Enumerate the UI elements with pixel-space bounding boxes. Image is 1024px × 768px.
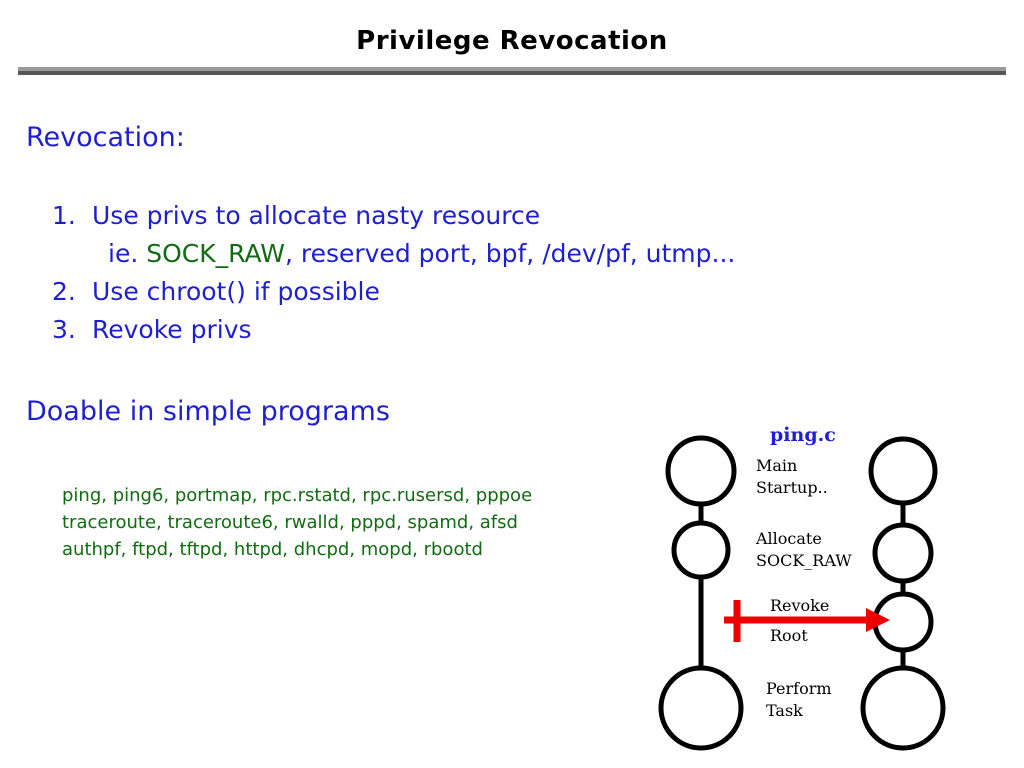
heading-doable: Doable in simple programs xyxy=(26,396,390,427)
list-item-marker: 1. xyxy=(52,197,92,235)
subtext-highlight: SOCK_RAW xyxy=(146,239,285,268)
diagram-label-main: Main Startup.. xyxy=(756,455,828,499)
list-item: 2. Use chroot() if possible xyxy=(52,273,912,311)
list-item: 3. Revoke privs xyxy=(52,311,912,349)
right-node-main xyxy=(871,439,935,503)
page-title: Privilege Revocation xyxy=(0,26,1024,56)
diagram-label-main-line2: Startup.. xyxy=(756,477,828,499)
program-list: ping, ping6, portmap, rpc.rstatd, rpc.ru… xyxy=(62,482,662,563)
diagram-label-perform-line1: Perform xyxy=(766,678,832,700)
right-node-perform xyxy=(863,668,943,748)
right-process-chain xyxy=(863,439,943,748)
program-list-line: ping, ping6, portmap, rpc.rstatd, rpc.ru… xyxy=(62,482,662,509)
slide-canvas: Privilege Revocation Revocation: 1. Use … xyxy=(0,0,1024,768)
list-item-label: Use privs to allocate nasty resource xyxy=(92,197,912,235)
revocation-steps-list: 1. Use privs to allocate nasty resource … xyxy=(52,197,912,349)
left-node-allocate xyxy=(674,523,728,577)
list-item-marker: 2. xyxy=(52,273,92,311)
subtext-suffix: , reserved port, bpf, /dev/pf, utmp... xyxy=(285,239,735,268)
list-item-marker: 3. xyxy=(52,311,92,349)
diagram-label-main-line1: Main xyxy=(756,455,828,477)
list-item-label: Use chroot() if possible xyxy=(92,273,912,311)
diagram-label-perform: Perform Task xyxy=(766,678,832,722)
left-node-perform xyxy=(661,668,741,748)
divider-shadow xyxy=(18,71,1006,75)
left-node-main xyxy=(668,438,734,504)
diagram-label-root: Root xyxy=(770,625,808,647)
program-list-line: traceroute, traceroute6, rwalld, pppd, s… xyxy=(62,509,662,536)
list-item-label: Revoke privs xyxy=(92,311,912,349)
diagram-label-allocate-line2: SOCK_RAW xyxy=(756,550,852,572)
list-item: 1. Use privs to allocate nasty resource xyxy=(52,197,912,235)
program-list-line: authpf, ftpd, tftpd, httpd, dhcpd, mopd,… xyxy=(62,536,662,563)
diagram-label-allocate-line1: Allocate xyxy=(756,528,852,550)
diagram-label-allocate: Allocate SOCK_RAW xyxy=(756,528,852,572)
diagram-label-revoke: Revoke xyxy=(770,595,829,617)
subtext-prefix: ie. xyxy=(108,239,146,268)
heading-revocation: Revocation: xyxy=(26,122,185,153)
left-process-chain xyxy=(661,438,741,748)
right-node-allocate xyxy=(875,525,931,581)
diagram-label-perform-line2: Task xyxy=(766,700,832,722)
diagram-caption: ping.c xyxy=(770,424,836,446)
title-divider xyxy=(18,67,1006,75)
list-item-subtext: ie. SOCK_RAW, reserved port, bpf, /dev/p… xyxy=(108,235,912,273)
